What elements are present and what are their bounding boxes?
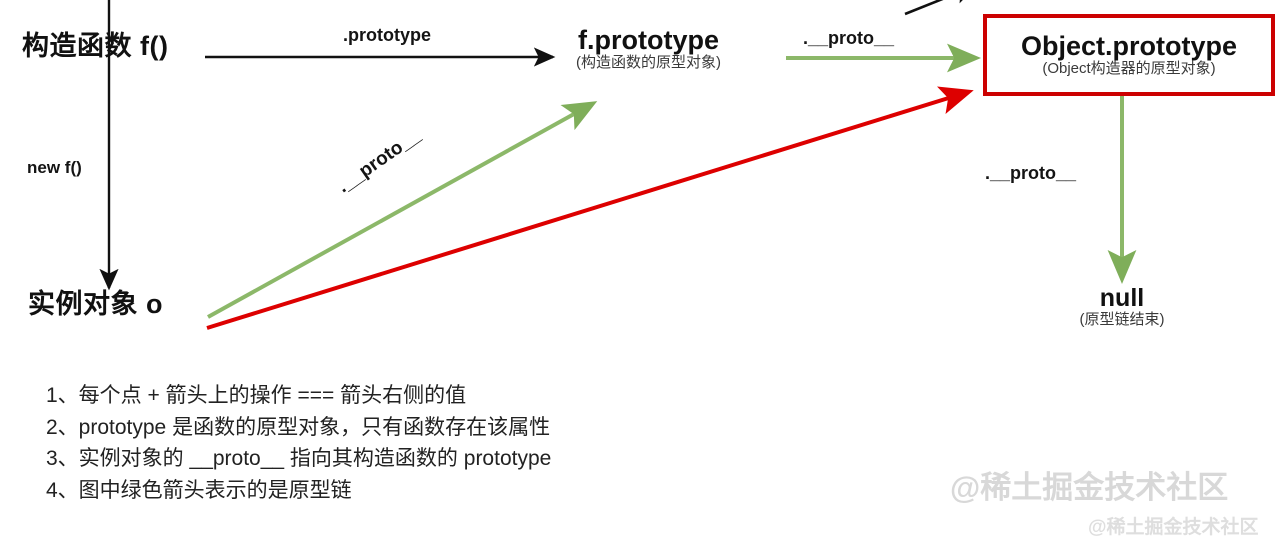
edge-label-prototype: .prototype [343,25,431,46]
node-f-prototype: f.prototype (构造函数的原型对象) [576,26,721,72]
edge-label-proto-instance: .__proto__ [334,125,425,198]
edge-label-proto-objectprototype: .__proto__ [985,163,1076,184]
note-item: 4、图中绿色箭头表示的是原型链 [46,475,766,507]
node-object-prototype: Object.prototype (Object构造器的原型对象) [983,14,1275,96]
node-null: null (原型链结束) [1062,285,1182,329]
node-title: 实例对象 o [28,290,163,318]
edge-instance-to-objectprototype-red [207,92,968,328]
node-title: null [1062,285,1182,311]
watermark-primary: @稀土掘金技术社区 [950,462,1228,507]
node-title: 构造函数 f() [22,32,168,60]
note-item: 1、每个点 + 箭头上的操作 === 箭头右侧的值 [46,380,766,412]
note-item: 2、prototype 是函数的原型对象，只有函数存在该属性 [46,412,766,444]
notes-list: 1、每个点 + 箭头上的操作 === 箭头右侧的值 2、prototype 是函… [46,380,766,506]
watermark-secondary: @稀土掘金技术社区 [1088,512,1259,539]
node-subtitle: (原型链结束) [1062,312,1182,329]
diagram-canvas: 构造函数 f() 实例对象 o f.prototype (构造函数的原型对象) … [0,0,1284,556]
node-subtitle: (构造函数的原型对象) [576,55,721,72]
edge-label-proto-fprototype: .__proto__ [803,28,894,49]
note-item: 3、实例对象的 __proto__ 指向其构造函数的 prototype [46,443,766,475]
node-constructor-function: 构造函数 f() [22,32,168,60]
edge-black-top-clipped [905,0,975,14]
node-instance-object: 实例对象 o [28,290,163,318]
node-title: Object.prototype [1021,32,1237,60]
edge-label-new-f: new f() [27,158,82,178]
node-subtitle: (Object构造器的原型对象) [1042,61,1215,78]
node-title: f.prototype [576,26,721,54]
